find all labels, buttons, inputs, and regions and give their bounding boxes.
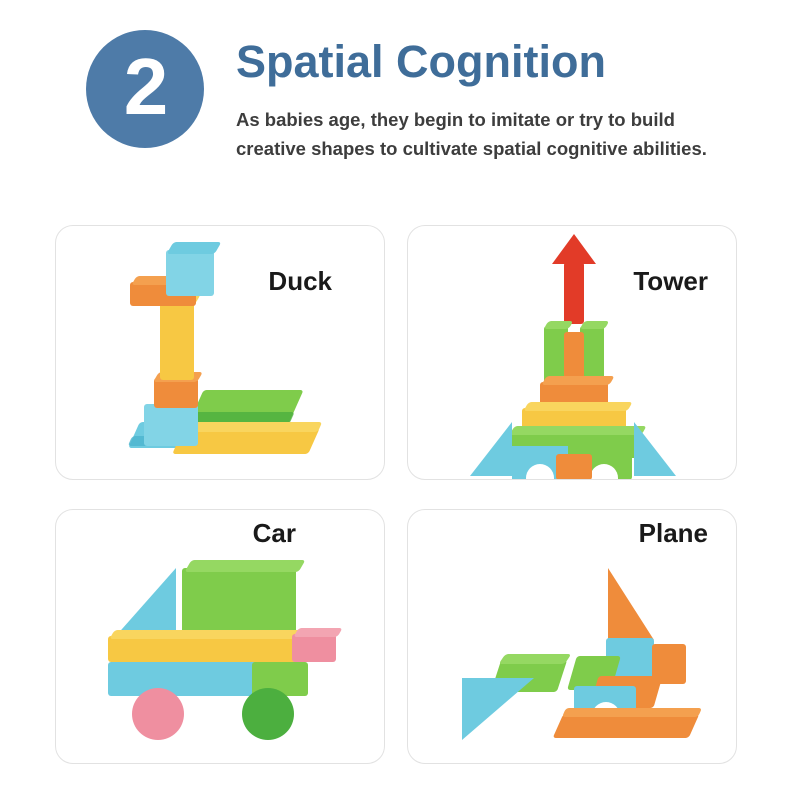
car-wheel-front	[132, 688, 184, 740]
card-car[interactable]: Car	[55, 509, 385, 764]
tower-left-ramp	[470, 422, 512, 476]
card-label-duck: Duck	[268, 266, 332, 297]
tower-tier1-top	[541, 376, 614, 385]
plane-body-bar	[553, 714, 700, 738]
poster-page: 2 Spatial Cognition As babies age, they …	[0, 0, 800, 800]
tower-tier2-top	[523, 402, 632, 411]
tower-arrow-shaft-icon	[564, 262, 584, 324]
car-cargo-box-top	[185, 560, 306, 572]
header: 2 Spatial Cognition As babies age, they …	[0, 0, 800, 200]
page-subtitle: As babies age, they begin to imitate or …	[236, 106, 766, 163]
tower-pillar-left-top	[544, 321, 574, 329]
duck-head-cube	[166, 250, 214, 296]
card-label-tower: Tower	[633, 266, 708, 297]
tower-center-mid-block	[556, 454, 592, 480]
plane-body-bar-top	[562, 708, 702, 717]
card-tower[interactable]: Tower	[407, 225, 737, 480]
card-plane[interactable]: Plane	[407, 509, 737, 764]
car-wheel-rear	[242, 688, 294, 740]
car-cabin-wedge	[114, 568, 176, 638]
tower-block-scene	[408, 226, 736, 479]
plane-nose-block-top	[499, 654, 572, 664]
car-cargo-box	[182, 568, 296, 636]
step-badge-number: 2	[124, 47, 167, 127]
duck-head-cube-top	[167, 242, 222, 254]
plane-tail-fin	[608, 568, 654, 640]
car-rear-block	[292, 634, 336, 662]
car-rear-block-top	[293, 628, 342, 637]
car-deck-bar	[108, 636, 302, 662]
duck-neck-bar	[160, 300, 194, 380]
tower-arrow-head-icon	[552, 234, 596, 264]
page-title: Spatial Cognition	[236, 36, 606, 88]
card-duck[interactable]: Duck	[55, 225, 385, 480]
duck-neck-orange-block	[154, 378, 198, 408]
tower-tier3-top	[509, 426, 646, 435]
step-badge: 2	[86, 30, 204, 148]
page-subtitle-line1: As babies age, they begin to imitate or …	[236, 109, 675, 130]
duck-block-scene	[56, 226, 384, 479]
tower-pillar-right-top	[580, 321, 610, 329]
car-deck-bar-top	[109, 630, 308, 639]
page-subtitle-line2: creative shapes to cultivate spatial cog…	[236, 135, 766, 164]
duck-body-bar-top	[182, 422, 322, 432]
cards-grid: Duck	[55, 225, 747, 770]
card-label-plane: Plane	[639, 518, 708, 549]
tower-right-ramp	[634, 422, 676, 476]
duck-body-square	[144, 404, 198, 446]
plane-wing-wedge	[462, 678, 534, 740]
car-block-scene	[56, 510, 384, 763]
card-label-car: Car	[253, 518, 296, 549]
